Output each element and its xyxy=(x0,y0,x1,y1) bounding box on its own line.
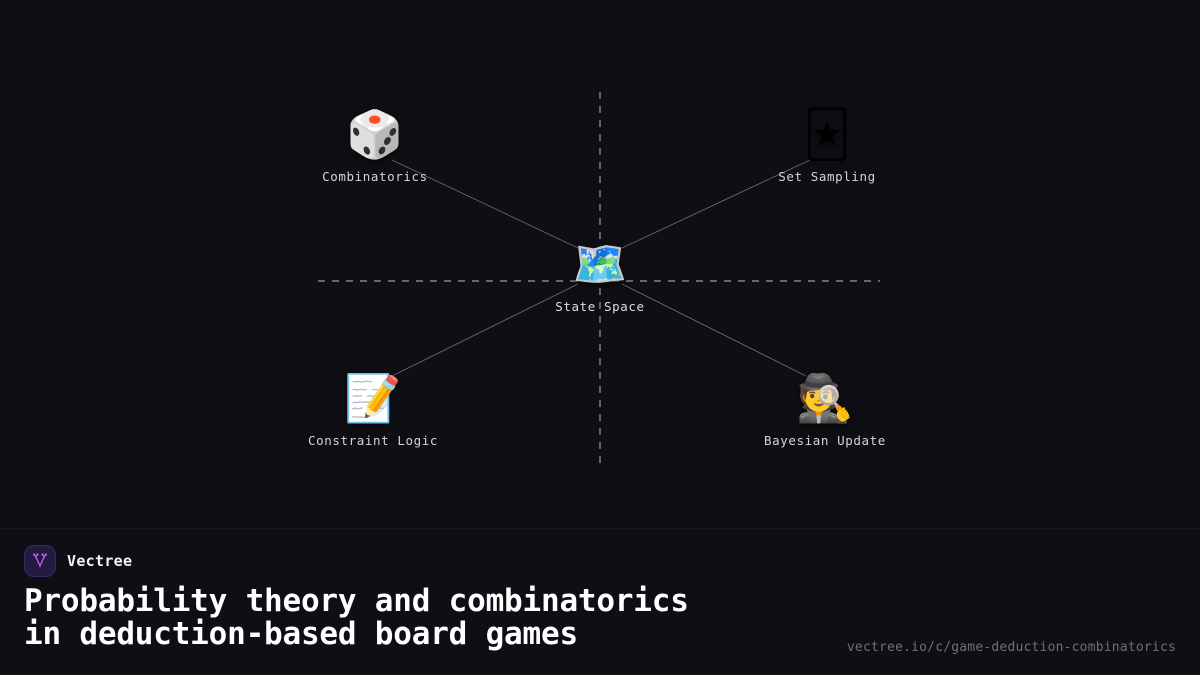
mindmap-diagram: 🗺️ State Space 🎲 Combinatorics 🃏 Set Sam… xyxy=(0,0,1200,528)
footer-bar: Vectree Probability theory and combinato… xyxy=(0,528,1200,675)
game-die-icon: 🎲 xyxy=(265,111,485,157)
memo-icon: 📝 xyxy=(263,375,483,421)
detective-icon: 🕵️ xyxy=(715,375,935,421)
brand-name: Vectree xyxy=(67,552,132,570)
joker-card-icon: 🃏 xyxy=(717,111,937,157)
node-state-space[interactable]: 🗺️ State Space xyxy=(490,243,710,314)
page-title: Probability theory and combinatorics in … xyxy=(24,585,824,651)
node-label-combinatorics: Combinatorics xyxy=(265,169,485,184)
world-map-icon: 🗺️ xyxy=(490,243,710,287)
node-bayesian-update[interactable]: 🕵️ Bayesian Update xyxy=(715,375,935,448)
brand[interactable]: Vectree xyxy=(24,545,132,577)
vectree-logo-icon xyxy=(24,545,56,577)
node-label-state-space: State Space xyxy=(490,299,710,314)
screenshot-canvas: 🗺️ State Space 🎲 Combinatorics 🃏 Set Sam… xyxy=(0,0,1200,675)
node-label-bayesian-update: Bayesian Update xyxy=(715,433,935,448)
node-constraint-logic[interactable]: 📝 Constraint Logic xyxy=(263,375,483,448)
node-set-sampling[interactable]: 🃏 Set Sampling xyxy=(717,111,937,184)
node-combinatorics[interactable]: 🎲 Combinatorics xyxy=(265,111,485,184)
page-url: vectree.io/c/game-deduction-combinatoric… xyxy=(847,640,1176,655)
node-label-set-sampling: Set Sampling xyxy=(717,169,937,184)
node-label-constraint-logic: Constraint Logic xyxy=(263,433,483,448)
